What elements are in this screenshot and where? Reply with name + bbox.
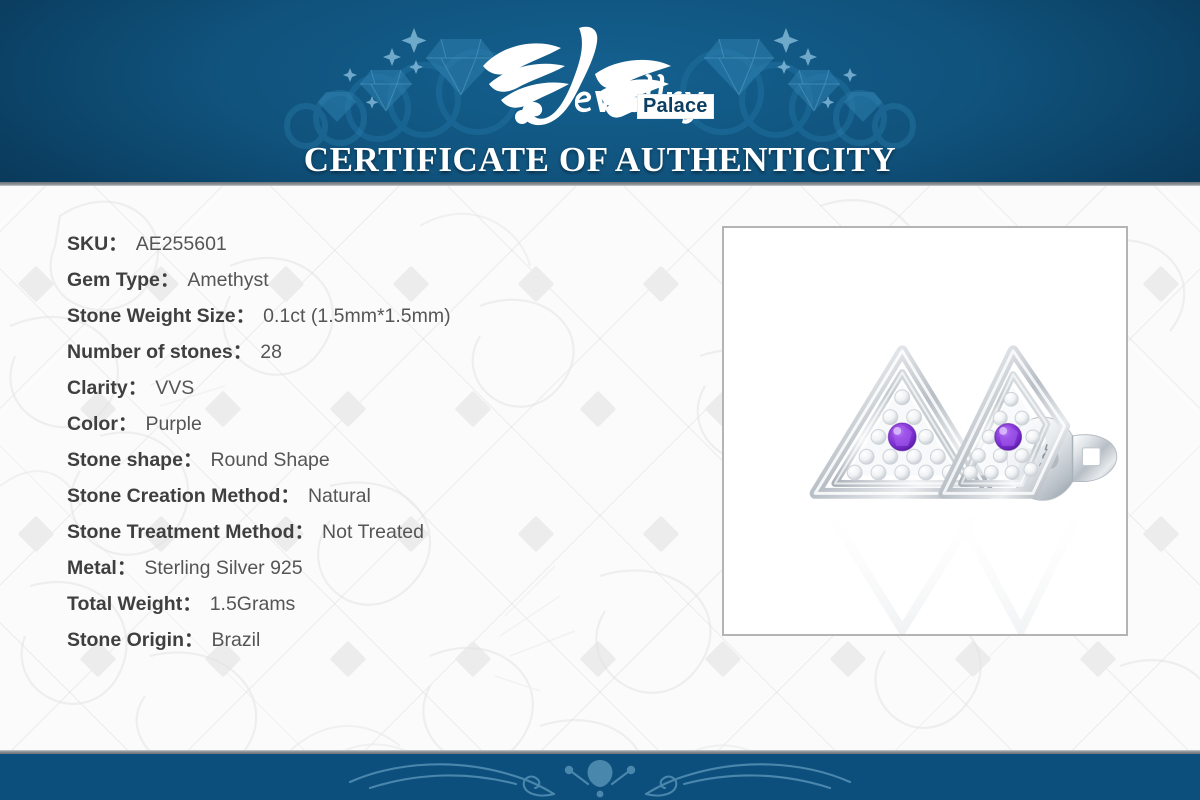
footer-flourish-ornament-icon: [340, 754, 860, 800]
brand-palace-label: Palace: [637, 94, 714, 119]
spec-value: Sterling Silver 925: [144, 557, 302, 579]
spec-row: Clarity：VVS: [67, 370, 707, 406]
spec-value: 1.5Grams: [210, 593, 296, 615]
spec-value: AE255601: [136, 233, 227, 255]
spec-colon: ：: [295, 521, 315, 543]
spec-label: Stone Creation Method: [67, 485, 280, 507]
amethyst-gem-right: [995, 424, 1022, 451]
spec-row: Stone Treatment Method：Not Treated: [67, 514, 707, 550]
spec-value: VVS: [155, 377, 194, 399]
spec-label: Clarity: [67, 377, 128, 399]
spec-value: Round Shape: [210, 449, 329, 471]
spec-row: Total Weight：1.5Grams: [67, 586, 707, 622]
spec-value: Not Treated: [322, 521, 424, 543]
spec-colon: ：: [118, 413, 138, 435]
spec-colon: ：: [128, 377, 148, 399]
certificate-details-list: SKU：AE255601Gem Type：AmethystStone Weigh…: [67, 226, 707, 658]
spec-colon: ：: [108, 233, 128, 255]
spec-label: Stone Origin: [67, 629, 184, 651]
product-photo-frame: S925: [722, 226, 1128, 636]
spec-label: Color: [67, 413, 118, 435]
spec-row: Metal：Sterling Silver 925: [67, 550, 707, 586]
spec-colon: ：: [117, 557, 137, 579]
spec-row: Stone Creation Method：Natural: [67, 478, 707, 514]
page-title: CERTIFICATE OF AUTHENTICITY: [0, 140, 1200, 180]
brand-logo: Palace: [0, 22, 1200, 132]
spec-value: Brazil: [212, 629, 261, 651]
spec-colon: ：: [184, 629, 204, 651]
spec-value: Purple: [145, 413, 201, 435]
spec-colon: ：: [233, 341, 253, 363]
spec-value: 0.1ct (1.5mm*1.5mm): [263, 305, 450, 327]
header-divider: [0, 182, 1200, 186]
spec-colon: ：: [160, 269, 180, 291]
spec-colon: ：: [183, 449, 203, 471]
spec-label: Number of stones: [67, 341, 233, 363]
spec-label: Gem Type: [67, 269, 160, 291]
spec-colon: ：: [182, 593, 202, 615]
spec-row: Color：Purple: [67, 406, 707, 442]
spec-row: SKU：AE255601: [67, 226, 707, 262]
spec-value: Natural: [308, 485, 371, 507]
spec-value: Amethyst: [187, 269, 268, 291]
spec-label: Stone shape: [67, 449, 183, 471]
spec-colon: ：: [236, 305, 256, 327]
spec-row: Number of stones：28: [67, 334, 707, 370]
spec-label: Total Weight: [67, 593, 182, 615]
spec-row: Stone Origin：Brazil: [67, 622, 707, 658]
spec-colon: ：: [280, 485, 300, 507]
spec-row: Gem Type：Amethyst: [67, 262, 707, 298]
product-photo-earrings: S925: [724, 228, 1126, 634]
spec-label: Stone Treatment Method: [67, 521, 295, 543]
spec-label: Stone Weight Size: [67, 305, 236, 327]
spec-row: Stone Weight Size：0.1ct (1.5mm*1.5mm): [67, 298, 707, 334]
spec-value: 28: [260, 341, 282, 363]
certificate-page: Palace CERTIFICATE OF AUTHENTICITY SKU：A…: [0, 0, 1200, 800]
spec-label: SKU: [67, 233, 108, 255]
amethyst-gem-left: [888, 423, 916, 451]
certificate-footer: [0, 754, 1200, 800]
spec-row: Stone shape：Round Shape: [67, 442, 707, 478]
certificate-header: Palace CERTIFICATE OF AUTHENTICITY: [0, 0, 1200, 186]
spec-label: Metal: [67, 557, 117, 579]
